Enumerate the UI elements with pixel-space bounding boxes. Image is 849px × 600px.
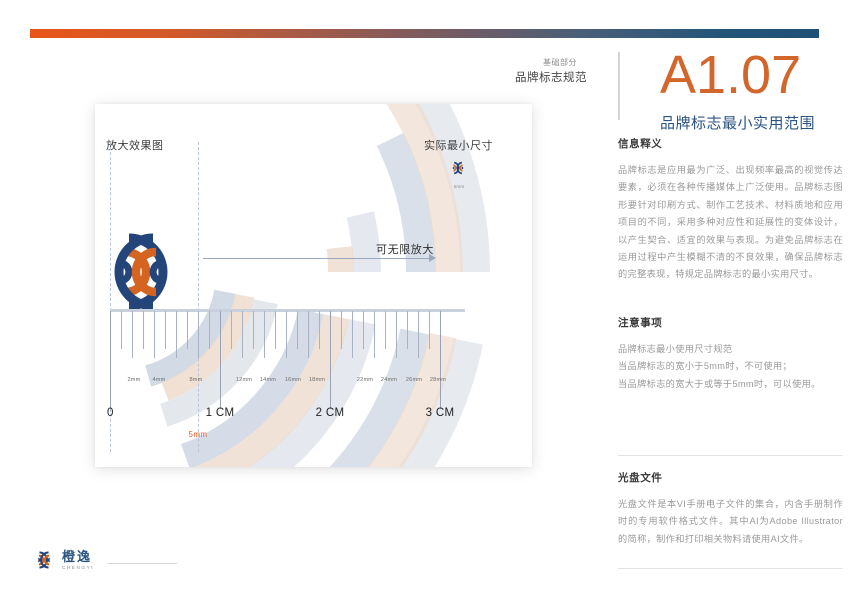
section-disc-body: 光盘文件是本VI手册电子文件的集合，内含手册制作时的专用软件格式文件。其中AI为…: [618, 496, 843, 548]
section-notice: 注意事项 品牌标志最小使用尺寸规范 当品牌标志的宽小于5mm时，不可使用； 当品…: [618, 315, 843, 393]
unlimited-scale-label: 可无限放大: [376, 241, 434, 257]
measuring-ruler: 2mm4mm8mm12mm14mm16mm18mm22mm24mm26mm28m…: [110, 309, 520, 439]
ruler-tick-mm: [319, 311, 320, 349]
section-label: 基础部分: [543, 57, 577, 68]
footer-brand: 橙逸 CHENGYI: [30, 549, 94, 571]
footer-brand-name-en: CHENGYI: [62, 565, 94, 570]
ruler-tick-cm: [330, 311, 331, 409]
gradient-header-bar: [30, 29, 819, 38]
section-notice-line: 当品牌标志的宽小于5mm时，不可使用；: [618, 358, 843, 375]
ruler-tick-mm: [132, 311, 133, 358]
footer-divider-right: [618, 568, 843, 569]
footer-brand-name-cn: 橙逸: [62, 550, 94, 563]
unlimited-scale-arrow-line: [203, 258, 432, 259]
ruler-tick-mm: [407, 311, 408, 349]
section-notice-line: 品牌标志最小使用尺寸规范: [618, 341, 843, 358]
ruler-tick-mm: [286, 311, 287, 358]
ruler-tick-mm: [209, 311, 210, 349]
ruler-mm-label: 12mm: [236, 377, 252, 383]
section-notice-heading: 注意事项: [618, 315, 843, 330]
card-label-right: 实际最小尺寸: [424, 137, 493, 153]
ruler-top-edge: [110, 309, 465, 312]
ruler-cm-label: 1 CM: [206, 407, 235, 419]
section-info-heading: 信息释义: [618, 136, 843, 151]
ruler-tick-mm: [374, 311, 375, 358]
section-info-body: 品牌标志是应用最为广泛、出现频率最高的视觉传达要素，必须在各种传播媒体上广泛使用…: [618, 162, 843, 284]
ruler-tick-mm: [242, 311, 243, 358]
section-disc-heading: 光盘文件: [618, 470, 843, 485]
section-divider: [618, 455, 843, 456]
ruler-mm-label: 28mm: [430, 377, 446, 383]
ruler-tick-mm: [297, 311, 298, 349]
ruler-tick-mm: [165, 311, 166, 349]
ruler-cm-label: 3 CM: [426, 407, 455, 419]
ruler-tick-mm: [341, 311, 342, 349]
brand-mark-minimum-size: [445, 159, 471, 177]
footer-brand-text: 橙逸 CHENGYI: [62, 550, 94, 570]
vi-manual-page: 基础部分 品牌标志规范 A1.07 品牌标志最小实用范围 信息释义 品牌标志是应…: [0, 0, 849, 600]
ruler-tick-mm: [176, 311, 177, 358]
ruler-tick-cm: [440, 311, 441, 409]
section-title: 品牌标志规范: [515, 69, 587, 85]
ruler-tick-mm: [396, 311, 397, 358]
ruler-5mm-marker: 5mm: [189, 430, 208, 439]
ruler-tick-mm: [198, 311, 199, 358]
ruler-tick-mm: [253, 311, 254, 349]
ruler-tick-mm: [231, 311, 232, 349]
ruler-tick-mm: [275, 311, 276, 349]
ruler-tick-cm: [220, 311, 221, 409]
ruler-mm-label: 24mm: [381, 377, 397, 383]
ruler-tick-mm: [121, 311, 122, 349]
header-divider: [618, 52, 620, 120]
ruler-tick-mm: [418, 311, 419, 358]
section-disc: 光盘文件 光盘文件是本VI手册电子文件的集合，内含手册制作时的专用软件格式文件。…: [618, 470, 843, 548]
ruler-tick-mm: [385, 311, 386, 349]
ruler-tick-mm: [143, 311, 144, 349]
ruler-mm-label: 2mm: [127, 377, 140, 383]
ruler-mm-label: 26mm: [406, 377, 422, 383]
page-code-subtitle: 品牌标志最小实用范围: [660, 112, 815, 133]
ruler-cm-label: 0: [107, 407, 114, 419]
ruler-tick-mm: [154, 311, 155, 358]
illustration-card: 放大效果图 实际最小尺寸 可无限放大: [95, 104, 532, 467]
ruler-tick-mm: [187, 311, 188, 349]
ruler-mm-label: 18mm: [309, 377, 325, 383]
ruler-tick-mm: [363, 311, 364, 349]
minimum-size-caption: 5mm: [446, 184, 472, 189]
ruler-tick-mm: [352, 311, 353, 358]
ruler-mm-label: 4mm: [152, 377, 165, 383]
ruler-tick-mm: [308, 311, 309, 358]
card-label-left: 放大效果图: [106, 137, 164, 153]
ruler-mm-label: 22mm: [357, 377, 373, 383]
ruler-tick-mm: [429, 311, 430, 349]
section-info: 信息释义 品牌标志是应用最为广泛、出现频率最高的视觉传达要素，必须在各种传播媒体…: [618, 136, 843, 284]
ruler-tick-cm: [110, 311, 111, 409]
ruler-tick-mm: [264, 311, 265, 358]
ruler-cm-label: 2 CM: [316, 407, 345, 419]
ruler-mm-label: 14mm: [260, 377, 276, 383]
ruler-mm-label: 8mm: [189, 377, 202, 383]
footer-rule: [107, 563, 177, 564]
section-notice-line: 当品牌标志的宽大于或等于5mm时，可以使用。: [618, 376, 843, 393]
page-code: A1.07: [660, 44, 801, 106]
ruler-mm-label: 16mm: [285, 377, 301, 383]
brand-mark-footer-icon: [30, 549, 58, 571]
